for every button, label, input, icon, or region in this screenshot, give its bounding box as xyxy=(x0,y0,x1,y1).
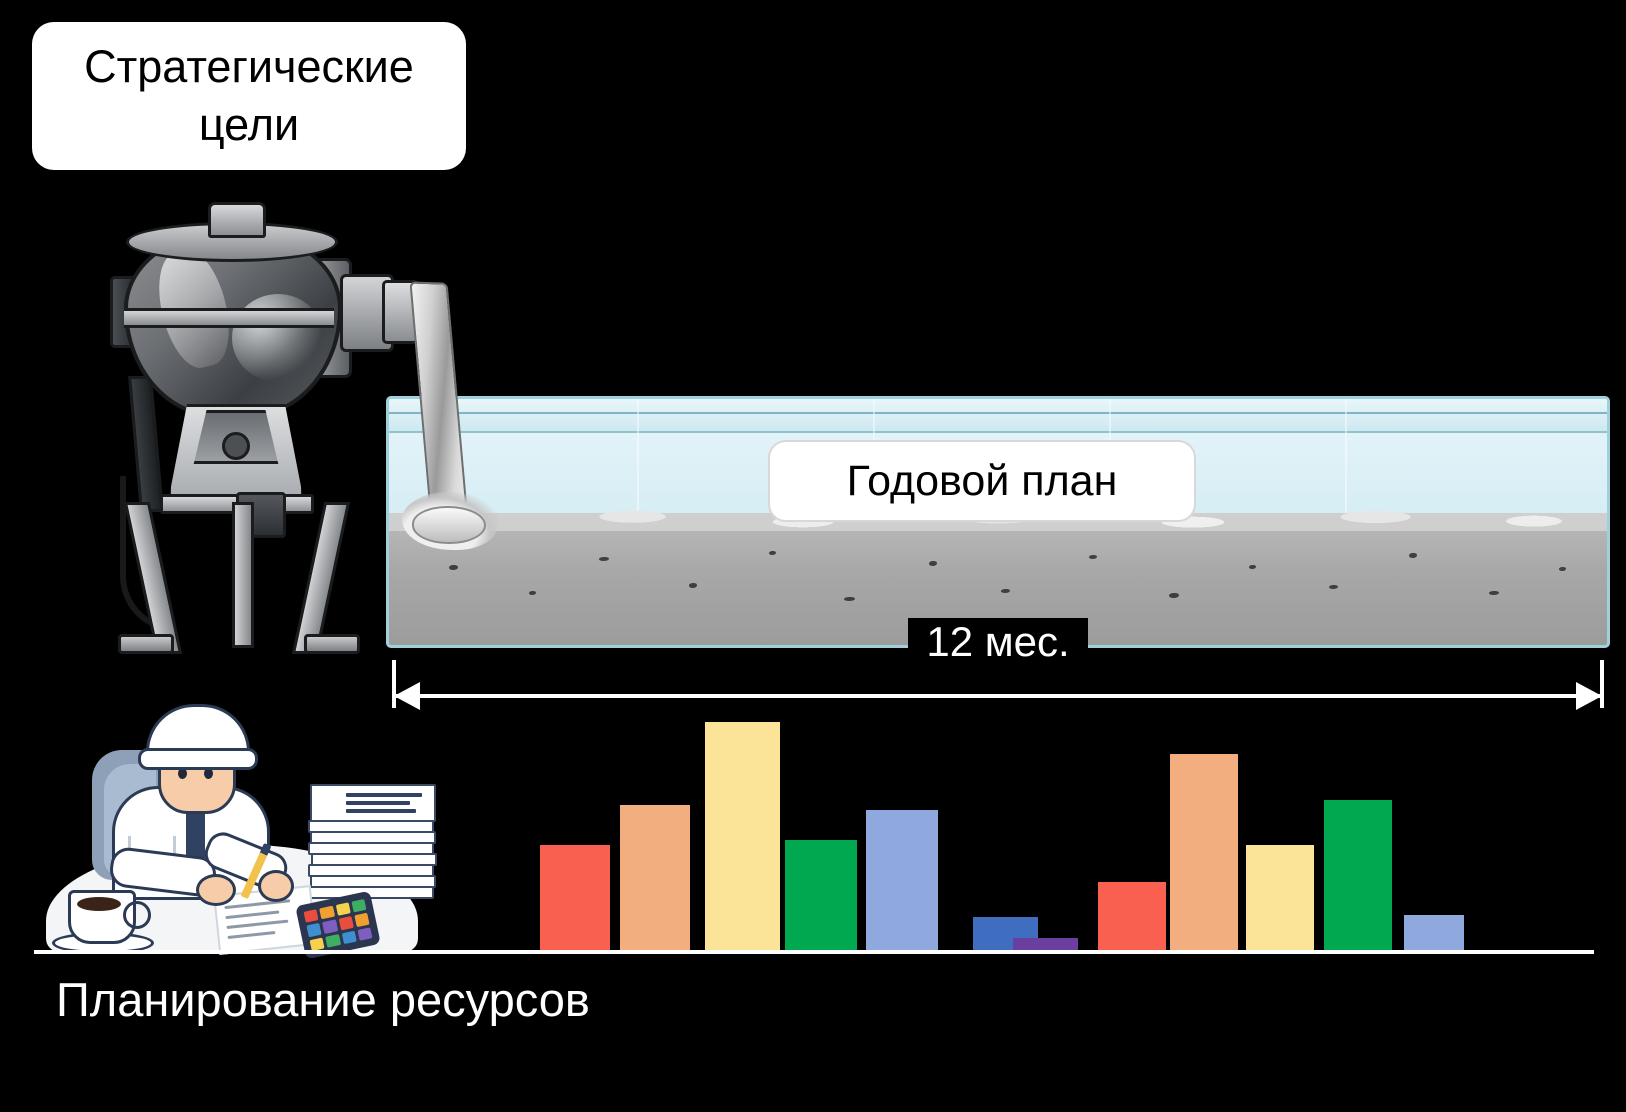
mixer-cap xyxy=(208,202,266,238)
chart-bar xyxy=(620,805,690,950)
annual-plan-label-text: Годовой план xyxy=(847,457,1118,506)
mixer-leg-right xyxy=(292,502,350,654)
engineer-at-desk-icon xyxy=(46,676,418,952)
annual-plan-label: Годовой план xyxy=(768,440,1196,522)
resource-bar-chart xyxy=(520,700,1480,950)
chart-bar xyxy=(1246,845,1314,950)
mixer-leg-middle xyxy=(232,502,254,648)
chart-bar xyxy=(1324,800,1392,950)
pouring-stream-icon xyxy=(406,282,492,550)
coffee-liquid xyxy=(77,897,121,911)
dimension-line xyxy=(392,694,1604,698)
mixer-foot-left xyxy=(118,634,174,654)
tank-rim xyxy=(389,399,1607,433)
chart-bar xyxy=(866,810,938,950)
chart-bar xyxy=(1404,915,1464,950)
tank-glass-body xyxy=(386,396,1610,648)
concrete-stream xyxy=(409,281,468,522)
engineer-hand-right xyxy=(258,870,294,902)
bottom-divider xyxy=(34,950,1594,954)
annual-plan-tank xyxy=(386,396,1610,648)
mixer-knob xyxy=(222,432,250,460)
chart-bar xyxy=(705,722,780,950)
duration-label-text: 12 мес. xyxy=(908,618,1087,665)
strategic-goals-title-pill: Стратегические цели xyxy=(32,22,466,170)
strategic-goals-title-text: Стратегические цели xyxy=(48,38,450,153)
chart-bar xyxy=(1013,938,1078,950)
engineer-hand-left xyxy=(196,874,236,906)
chart-bar xyxy=(1098,882,1166,950)
slide-canvas: Стратегические цели xyxy=(0,0,1626,1112)
chart-bar xyxy=(540,845,610,950)
document-top-sheet xyxy=(310,784,436,822)
duration-label: 12 мес. xyxy=(392,618,1604,666)
mixer-foot-right xyxy=(304,634,360,654)
chart-bar xyxy=(785,840,857,950)
arrow-right-icon xyxy=(1576,682,1602,710)
mixer-bowl-band xyxy=(124,308,334,328)
coffee-cup-icon xyxy=(68,890,136,944)
resource-planning-caption: Планирование ресурсов xyxy=(56,972,590,1027)
concrete-mixer-icon xyxy=(104,196,410,648)
concrete-splash-core xyxy=(412,506,486,544)
chart-bar xyxy=(1170,754,1238,950)
hard-hat-brim xyxy=(138,748,258,770)
document-stack-icon xyxy=(308,786,440,896)
